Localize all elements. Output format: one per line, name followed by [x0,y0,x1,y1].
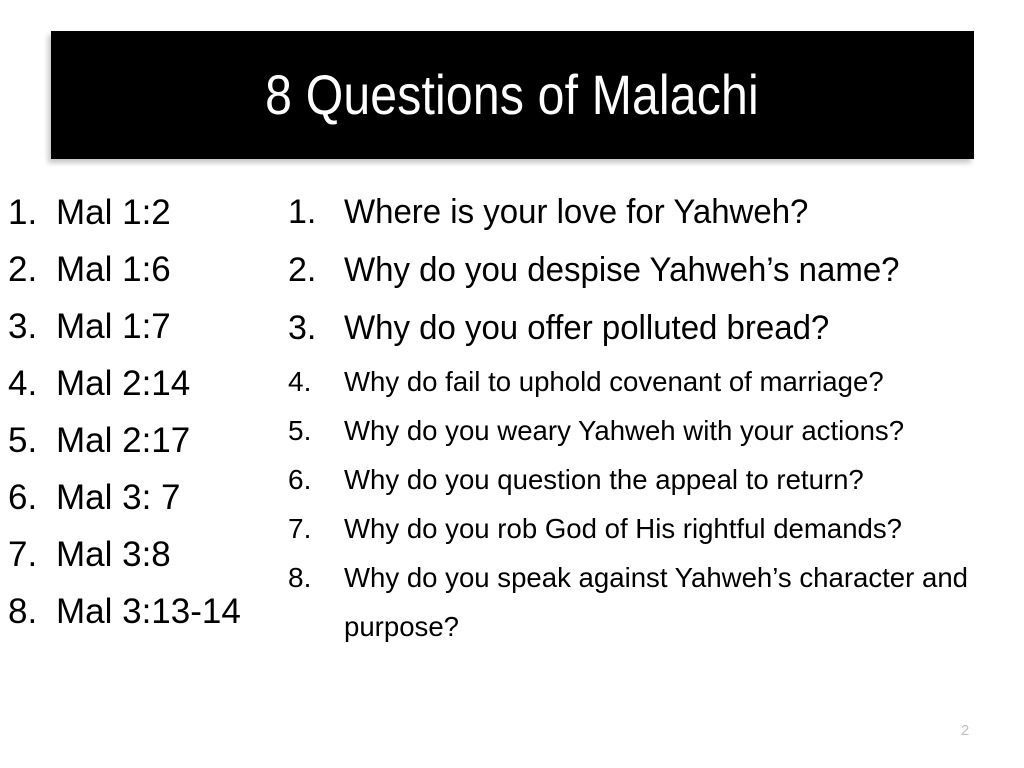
list-item: 4. Mal 2:14 [8,355,286,412]
list-item-label: Mal 3: 7 [56,469,286,526]
list-item-number: 6. [8,469,56,526]
page-number: 2 [950,722,980,739]
list-item: 3. Why do you offer polluted bread? [288,299,1008,357]
list-item-label: Where is your love for Yahweh? [344,183,988,241]
list-item-number: 5. [288,406,344,455]
list-item-label: Mal 1:2 [56,184,286,241]
list-item-label: Mal 3:8 [56,526,286,583]
list-item-label: Why do you rob God of His rightful deman… [344,504,998,553]
list-item: 5. Mal 2:17 [8,412,286,469]
title-banner: 8 Questions of Malachi [51,31,974,159]
list-item-number: 8. [288,553,344,602]
list-item: 4. Why do fail to uphold covenant of mar… [288,357,1008,406]
list-item-label: Mal 1:7 [56,298,286,355]
list-item-label: Why do you despise Yahweh’s name? [344,241,988,299]
list-item: 2. Why do you despise Yahweh’s name? [288,241,1008,299]
list-item-label: Mal 3:13-14 [56,583,286,640]
list-item-number: 4. [8,355,56,412]
list-item-number: 1. [288,183,344,241]
list-item: 6. Mal 3: 7 [8,469,286,526]
list-item-number: 4. [288,357,344,406]
list-item: 8. Mal 3:13-14 [8,583,286,640]
list-item: 7. Why do you rob God of His rightful de… [288,504,1008,553]
list-item-label: Why do fail to uphold covenant of marria… [344,357,998,406]
list-item: 3. Mal 1:7 [8,298,286,355]
list-item-number: 7. [288,504,344,553]
list-item-number: 3. [288,299,344,357]
list-item-label: Why do you speak against Yahweh’s charac… [344,553,998,651]
page-title: 8 Questions of Malachi [266,66,760,125]
list-item-label: Why do you question the appeal to return… [344,455,998,504]
list-item-label: Mal 2:17 [56,412,286,469]
list-item: 1. Where is your love for Yahweh? [288,183,1008,241]
list-item: 1. Mal 1:2 [8,184,286,241]
list-item-number: 6. [288,455,344,504]
slide: 8 Questions of Malachi 1. Mal 1:2 2. Mal… [0,0,1024,768]
list-item: 7. Mal 3:8 [8,526,286,583]
list-item: 5. Why do you weary Yahweh with your act… [288,406,1008,455]
list-item-number: 7. [8,526,56,583]
list-item-number: 8. [8,583,56,640]
list-item: 2. Mal 1:6 [8,241,286,298]
references-list: 1. Mal 1:2 2. Mal 1:6 3. Mal 1:7 4. Mal … [8,184,286,640]
list-item-number: 2. [288,241,344,299]
list-item-label: Mal 2:14 [56,355,286,412]
list-item-label: Why do you weary Yahweh with your action… [344,406,998,455]
list-item: 8. Why do you speak against Yahweh’s cha… [288,553,1008,651]
questions-list: 1. Where is your love for Yahweh? 2. Why… [288,183,1008,651]
list-item: 6. Why do you question the appeal to ret… [288,455,1008,504]
list-item-number: 5. [8,412,56,469]
list-item-label: Why do you offer polluted bread? [344,299,988,357]
list-item-number: 3. [8,298,56,355]
slide-body: 1. Mal 1:2 2. Mal 1:6 3. Mal 1:7 4. Mal … [0,177,1024,677]
list-item-number: 2. [8,241,56,298]
list-item-number: 1. [8,184,56,241]
list-item-label: Mal 1:6 [56,241,286,298]
